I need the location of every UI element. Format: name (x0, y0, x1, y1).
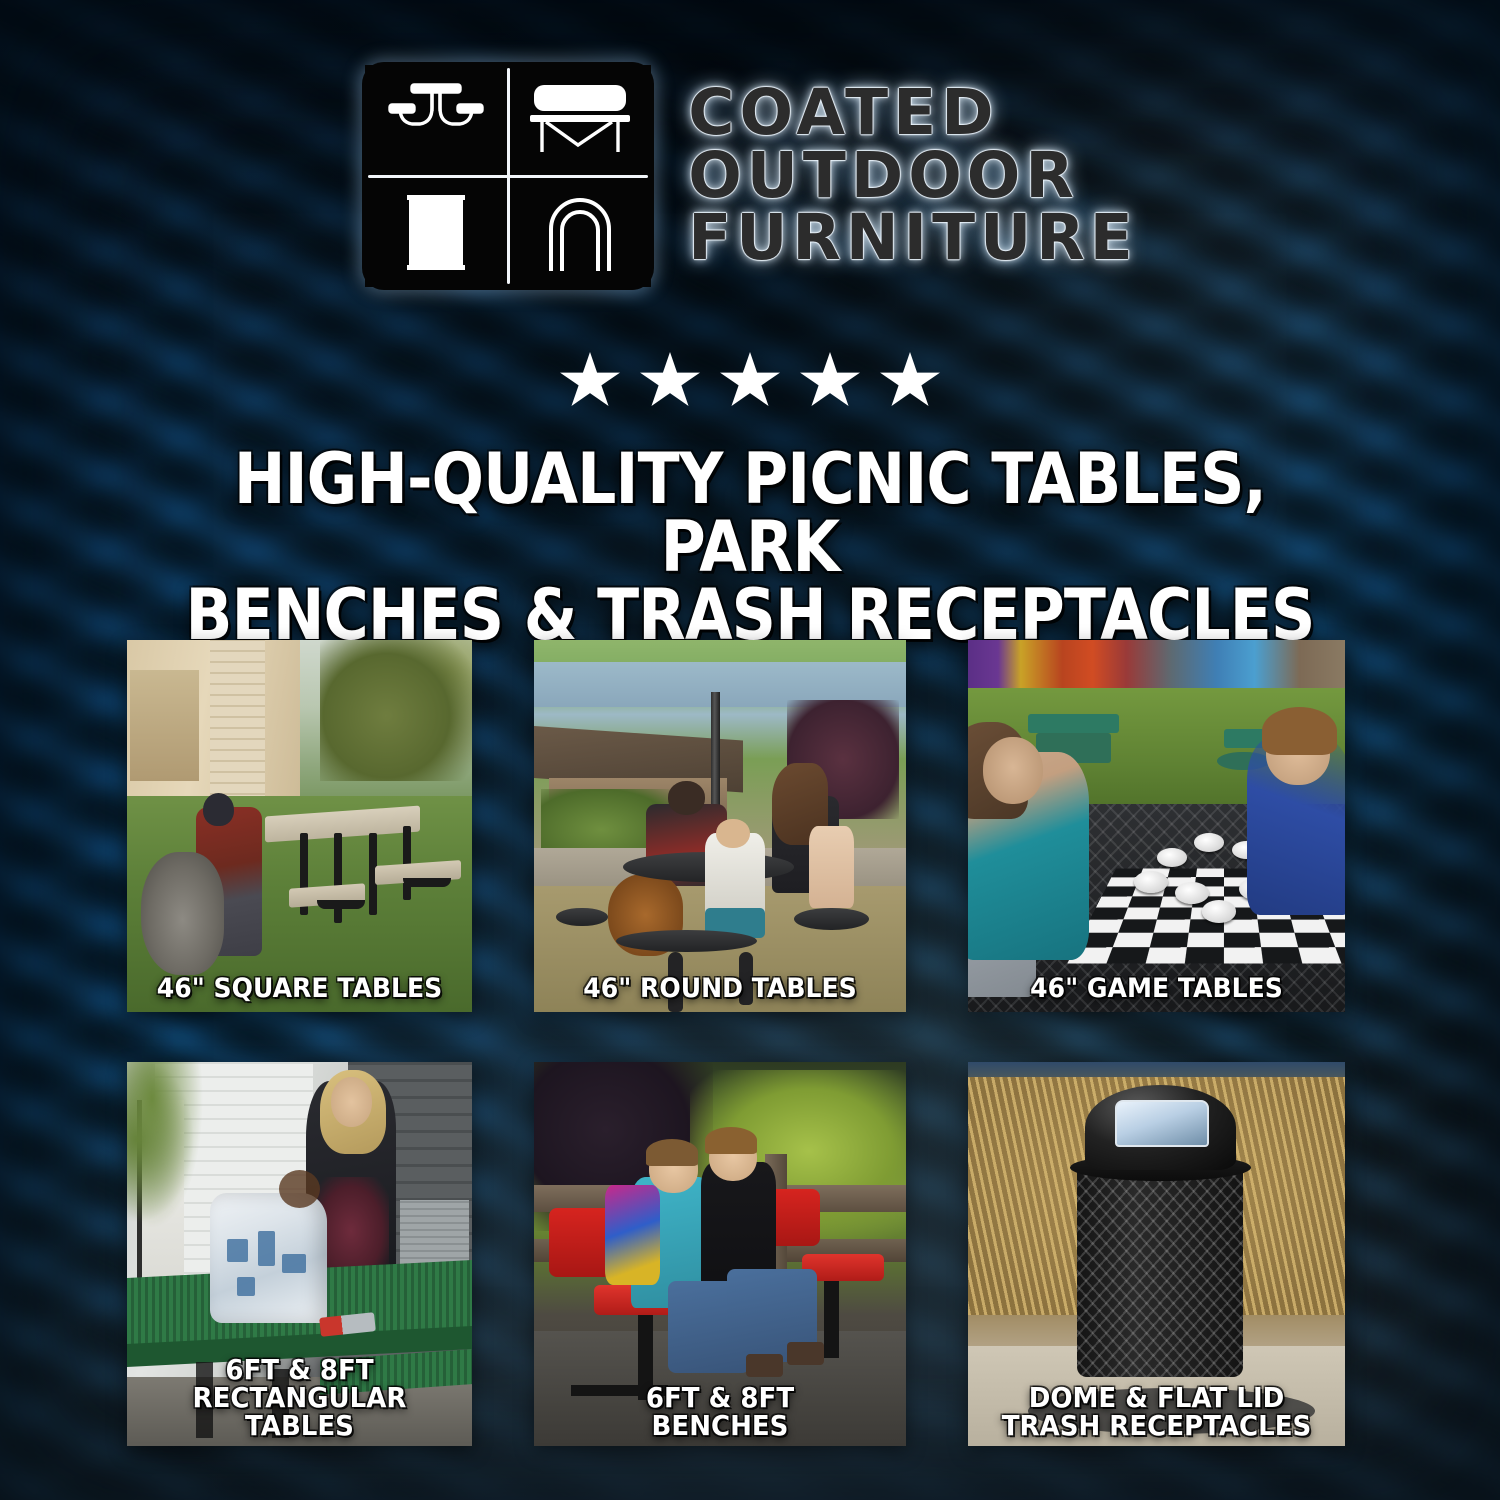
star-icon (720, 352, 780, 410)
tile-caption-line-1: 46" SQUARE TABLES (157, 973, 442, 1004)
page-title: HIGH-QUALITY PICNIC TABLES, PARK BENCHES… (143, 446, 1357, 650)
logo-icon-grid (362, 62, 654, 290)
tile-caption-line-1: 46" ROUND TABLES (583, 973, 856, 1004)
product-tile-game-tables[interactable]: 46" GAME TABLES (968, 640, 1345, 1012)
tile-caption: 46" SQUARE TABLES (143, 975, 456, 1002)
star-icon (880, 352, 940, 410)
star-icon (800, 352, 860, 410)
product-tile-round-tables[interactable]: 46" ROUND TABLES (534, 640, 906, 1012)
brand-logo: COATED OUTDOOR FURNITURE (0, 62, 1500, 290)
star-rating (0, 352, 1500, 410)
tile-caption: 46" ROUND TABLES (551, 975, 890, 1002)
round-tables-photo (534, 640, 906, 1012)
product-grid: 46" SQUARE TABLES (127, 640, 1373, 1446)
logo-wordmark: COATED OUTDOOR FURNITURE (688, 83, 1138, 268)
product-tile-rectangular-tables[interactable]: 6FT & 8FT RECTANGULAR TABLES (127, 1062, 472, 1446)
bike-rack-icon (510, 178, 652, 288)
trash-receptacle-icon (365, 178, 507, 288)
headline-line-1: HIGH-QUALITY PICNIC TABLES, PARK (143, 446, 1357, 582)
tile-caption: 6FT & 8FT RECTANGULAR TABLES (143, 1356, 456, 1440)
product-tile-square-tables[interactable]: 46" SQUARE TABLES (127, 640, 472, 1012)
logo-line-1: COATED (688, 83, 1138, 143)
tile-caption: DOME & FLAT LID TRASH RECEPTACLES (985, 1384, 1328, 1440)
tile-caption-line-2: BENCHES (551, 1412, 890, 1440)
tile-caption: 46" GAME TABLES (985, 975, 1328, 1002)
game-tables-photo (968, 640, 1345, 1012)
tile-caption: 6FT & 8FT BENCHES (551, 1384, 890, 1440)
tile-caption-line-1: 46" GAME TABLES (1030, 973, 1283, 1004)
product-tile-trash-receptacles[interactable]: DOME & FLAT LID TRASH RECEPTACLES (968, 1062, 1345, 1446)
picnic-table-icon (365, 65, 507, 175)
star-icon (640, 352, 700, 410)
tile-caption-line-2: TRASH RECEPTACLES (985, 1412, 1328, 1440)
star-icon (560, 352, 620, 410)
tile-caption-line-2: RECTANGULAR TABLES (143, 1384, 456, 1440)
bench-icon (510, 65, 652, 175)
promo-banner: COATED OUTDOOR FURNITURE HIGH-QUALITY PI… (0, 0, 1500, 1500)
logo-line-3: FURNITURE (688, 208, 1138, 268)
product-tile-benches[interactable]: 6FT & 8FT BENCHES (534, 1062, 906, 1446)
logo-line-2: OUTDOOR (688, 146, 1138, 206)
square-tables-photo (127, 640, 472, 1012)
